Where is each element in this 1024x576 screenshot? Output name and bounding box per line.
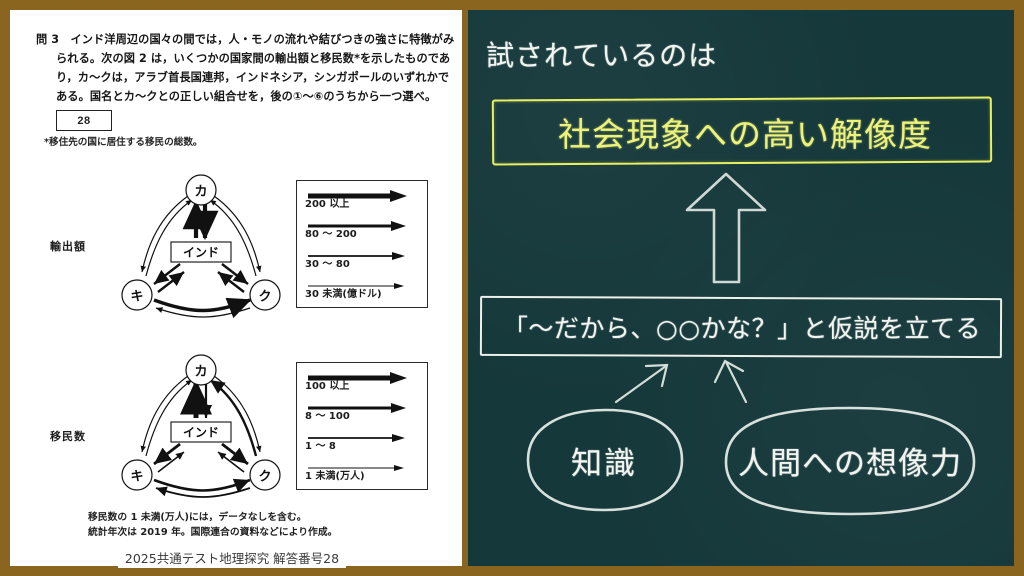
- right-support-arrow-icon: [715, 361, 746, 402]
- svg-text:インド: インド: [183, 426, 219, 440]
- question-line: り，カ〜クは，アラブ首長国連邦，インドネシア，シンガポールのいずれかで: [36, 68, 444, 87]
- svg-text:キ: キ: [130, 290, 143, 305]
- chalkboard-panel: 試されているのは 社会現象への高い解像度 「〜だから、○○かな？」と仮説を立てる: [468, 10, 1014, 566]
- legend-row: 1 未満(万人): [297, 453, 427, 483]
- legend-label: 80 ～ 200: [305, 225, 357, 240]
- question-text: 問 3 インド洋周辺の国々の間では，人・モノの流れや結びつきの強さに特徴がみ ら…: [36, 30, 444, 106]
- support-right-text: 人間への想像力: [719, 442, 981, 478]
- question-footnote: *移住先の国に居住する移民の総数。: [44, 134, 203, 148]
- source-note-line: 移民数の 1 未満(万人)には，データなしを含む。: [88, 510, 337, 525]
- legend-label: 200 以上: [305, 195, 349, 210]
- svg-text:キ: キ: [130, 470, 143, 485]
- question-line: られる。次の図 2 は，いくつかの国家間の輸出額と移民数*を示したものであ: [36, 49, 444, 68]
- svg-text:ク: ク: [258, 290, 271, 305]
- svg-text:カ: カ: [194, 185, 207, 200]
- source-note-line: 統計年次は 2019 年。国際連合の資料などにより作成。: [88, 525, 337, 540]
- left-support-arrow-icon: [616, 365, 667, 402]
- legend-label: 1 ～ 8: [305, 437, 336, 452]
- legend-label: 30 ～ 80: [305, 255, 350, 270]
- legend-label: 1 未満(万人): [305, 467, 365, 482]
- question-line: ある。国名とカ〜クとの正しい組合せを，後の①〜⑥のうちから一つ選べ。: [36, 87, 444, 106]
- legend-label: 30 未満(億ドル): [305, 285, 382, 300]
- question-line: 問 3 インド洋周辺の国々の間では，人・モノの流れや結びつきの強さに特徴がみ: [36, 30, 444, 49]
- legend-label: 100 以上: [305, 377, 349, 392]
- legend-row: 30 ～ 80: [297, 241, 427, 271]
- legend-row: 80 ～ 200: [297, 211, 427, 241]
- legend-migrants: 100 以上 8 ～ 100 1 ～ 8 1 未満(万人): [296, 362, 428, 490]
- legend-row: 200 以上: [297, 181, 427, 211]
- legend-label: 8 ～ 100: [305, 407, 350, 422]
- svg-text:ク: ク: [258, 470, 271, 485]
- support-left-text: 知識: [524, 442, 684, 478]
- diagram-bottom-label: 移民数: [50, 428, 86, 444]
- legend-row: 1 ～ 8: [297, 423, 427, 453]
- bottom-caption-bar: 2025共通テスト地理探究 解答番号28: [118, 546, 346, 568]
- legend-row: 30 未満(億ドル): [297, 271, 427, 301]
- answer-number-box: 28: [56, 110, 112, 131]
- diagram-bottom-migrants: カ キ ク インド: [110, 352, 290, 502]
- legend-row: 8 ～ 100: [297, 393, 427, 423]
- legend-exports: 200 以上 80 ～ 200 30 ～ 80 30 未満(億ドル): [296, 180, 428, 308]
- exam-paper-panel: 問 3 インド洋周辺の国々の間では，人・モノの流れや結びつきの強さに特徴がみ ら…: [10, 10, 462, 566]
- legend-row: 100 以上: [297, 363, 427, 393]
- screenshot-root: 問 3 インド洋周辺の国々の間では，人・モノの流れや結びつきの強さに特徴がみ ら…: [0, 0, 1024, 576]
- svg-text:インド: インド: [183, 246, 219, 260]
- big-up-arrow-icon: [687, 174, 765, 282]
- diagram-top-label: 輸出額: [50, 238, 86, 254]
- source-note: 移民数の 1 未満(万人)には，データなしを含む。 統計年次は 2019 年。国…: [88, 510, 337, 540]
- diagram-top-exports: カ キ ク インド: [110, 172, 290, 322]
- chalk-drawings: [468, 10, 1014, 566]
- svg-text:カ: カ: [194, 365, 207, 380]
